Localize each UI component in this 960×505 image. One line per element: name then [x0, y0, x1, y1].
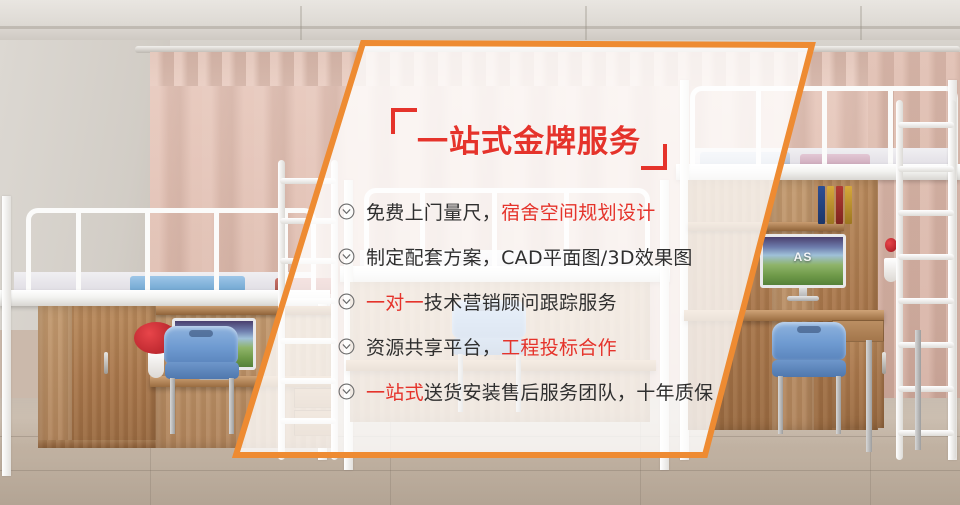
list-item-label: 免费上门量尺，宿舍空间规划设计: [366, 198, 656, 225]
guardrail-post: [822, 86, 827, 166]
circled-chevron-down-icon: [338, 338, 355, 355]
ladder-rung: [898, 342, 954, 348]
stool-leg: [915, 330, 921, 450]
chair-leg: [778, 376, 783, 434]
list-item: 资源共享平台，工程投标合作: [338, 331, 718, 361]
circled-chevron-down-icon: [338, 293, 355, 310]
ladder-rung: [280, 418, 336, 424]
ladder-rung: [898, 430, 954, 436]
bed-ladder-right: [896, 100, 956, 460]
monitor-screen: AS: [760, 234, 846, 288]
list-item-label: 资源共享平台，工程投标合作: [366, 333, 617, 360]
stool-leg: [866, 340, 872, 452]
ceiling-seam: [585, 6, 587, 40]
chair-leg: [836, 376, 841, 434]
guardrail-post: [888, 86, 893, 166]
promo-banner: AS: [0, 0, 960, 505]
list-item: 一对一技术营销顾问跟踪服务: [338, 286, 718, 316]
wardrobe-plinth: [38, 440, 156, 448]
title-block: 一站式金牌服务: [391, 108, 667, 170]
ladder-rung: [898, 386, 954, 392]
corner-bracket-bottom-right-icon: [641, 144, 667, 170]
chair-back-right: [772, 322, 846, 360]
floor-grout-line: [0, 470, 960, 471]
chair-leg: [170, 378, 175, 434]
list-item-label: 制定配套方案，CAD平面图/3D效果图: [366, 243, 693, 270]
guardrail-post: [214, 208, 219, 292]
monitor-base: [787, 296, 819, 301]
circled-chevron-down-icon: [338, 203, 355, 220]
list-item-label: 一对一技术营销顾问跟踪服务: [366, 288, 617, 315]
monitor-logo: AS: [794, 250, 813, 264]
ladder-rung: [280, 298, 336, 304]
wardrobe-side-panel: [38, 306, 72, 448]
monitor-right: AS: [760, 234, 846, 288]
ladder-rung: [280, 218, 336, 224]
corner-bracket-top-left-icon: [391, 108, 417, 134]
ladder-rung: [280, 378, 336, 384]
guardrail-post: [145, 208, 150, 292]
wardrobe-handle: [104, 352, 108, 374]
ceiling-seam: [300, 6, 302, 40]
chair-leg: [229, 378, 234, 434]
chair-seat-right: [772, 360, 846, 377]
ladder-rung: [898, 210, 954, 216]
book: [845, 186, 852, 224]
ladder-rung: [898, 254, 954, 260]
ladder-rung: [898, 298, 954, 304]
guardrail-post: [756, 86, 761, 166]
ladder-rung: [898, 166, 954, 172]
guardrail-post: [76, 208, 81, 292]
list-item: 制定配套方案，CAD平面图/3D效果图: [338, 241, 718, 271]
list-item-label: 一站式送货安装售后服务团队，十年质保: [366, 378, 713, 405]
ladder-rung: [898, 122, 954, 128]
chair-seat-left: [165, 362, 239, 379]
book: [818, 186, 825, 224]
bed-post-left: [2, 196, 11, 476]
flower-vase-left: [148, 350, 164, 378]
book: [836, 186, 843, 224]
feature-list: 免费上门量尺，宿舍空间规划设计 制定配套方案，CAD平面图/3D效果图: [338, 196, 718, 406]
ladder-rail: [896, 100, 903, 460]
ladder-rung: [280, 258, 336, 264]
cabinet-handle: [882, 352, 886, 374]
ladder-rung: [280, 338, 336, 344]
circled-chevron-down-icon: [338, 383, 355, 400]
ceiling-seam: [860, 6, 862, 40]
ladder-rail: [278, 160, 285, 460]
curtain-header: [150, 52, 960, 86]
circled-chevron-down-icon: [338, 248, 355, 265]
bed-ladder-left: [278, 160, 338, 460]
book: [827, 186, 834, 224]
page-title: 一站式金牌服务: [417, 116, 641, 161]
promo-content: 一站式金牌服务 免费上门量尺，宿舍空间规划设计: [338, 108, 718, 408]
bed-guardrail-left: [26, 208, 316, 292]
ladder-rung: [280, 178, 336, 184]
chair-back-left: [164, 326, 238, 364]
list-item: 免费上门量尺，宿舍空间规划设计: [338, 196, 718, 226]
ladder-rail: [949, 100, 956, 460]
ladder-rail: [331, 160, 338, 460]
list-item: 一站式送货安装售后服务团队，十年质保: [338, 376, 718, 406]
ceiling: [0, 0, 960, 40]
